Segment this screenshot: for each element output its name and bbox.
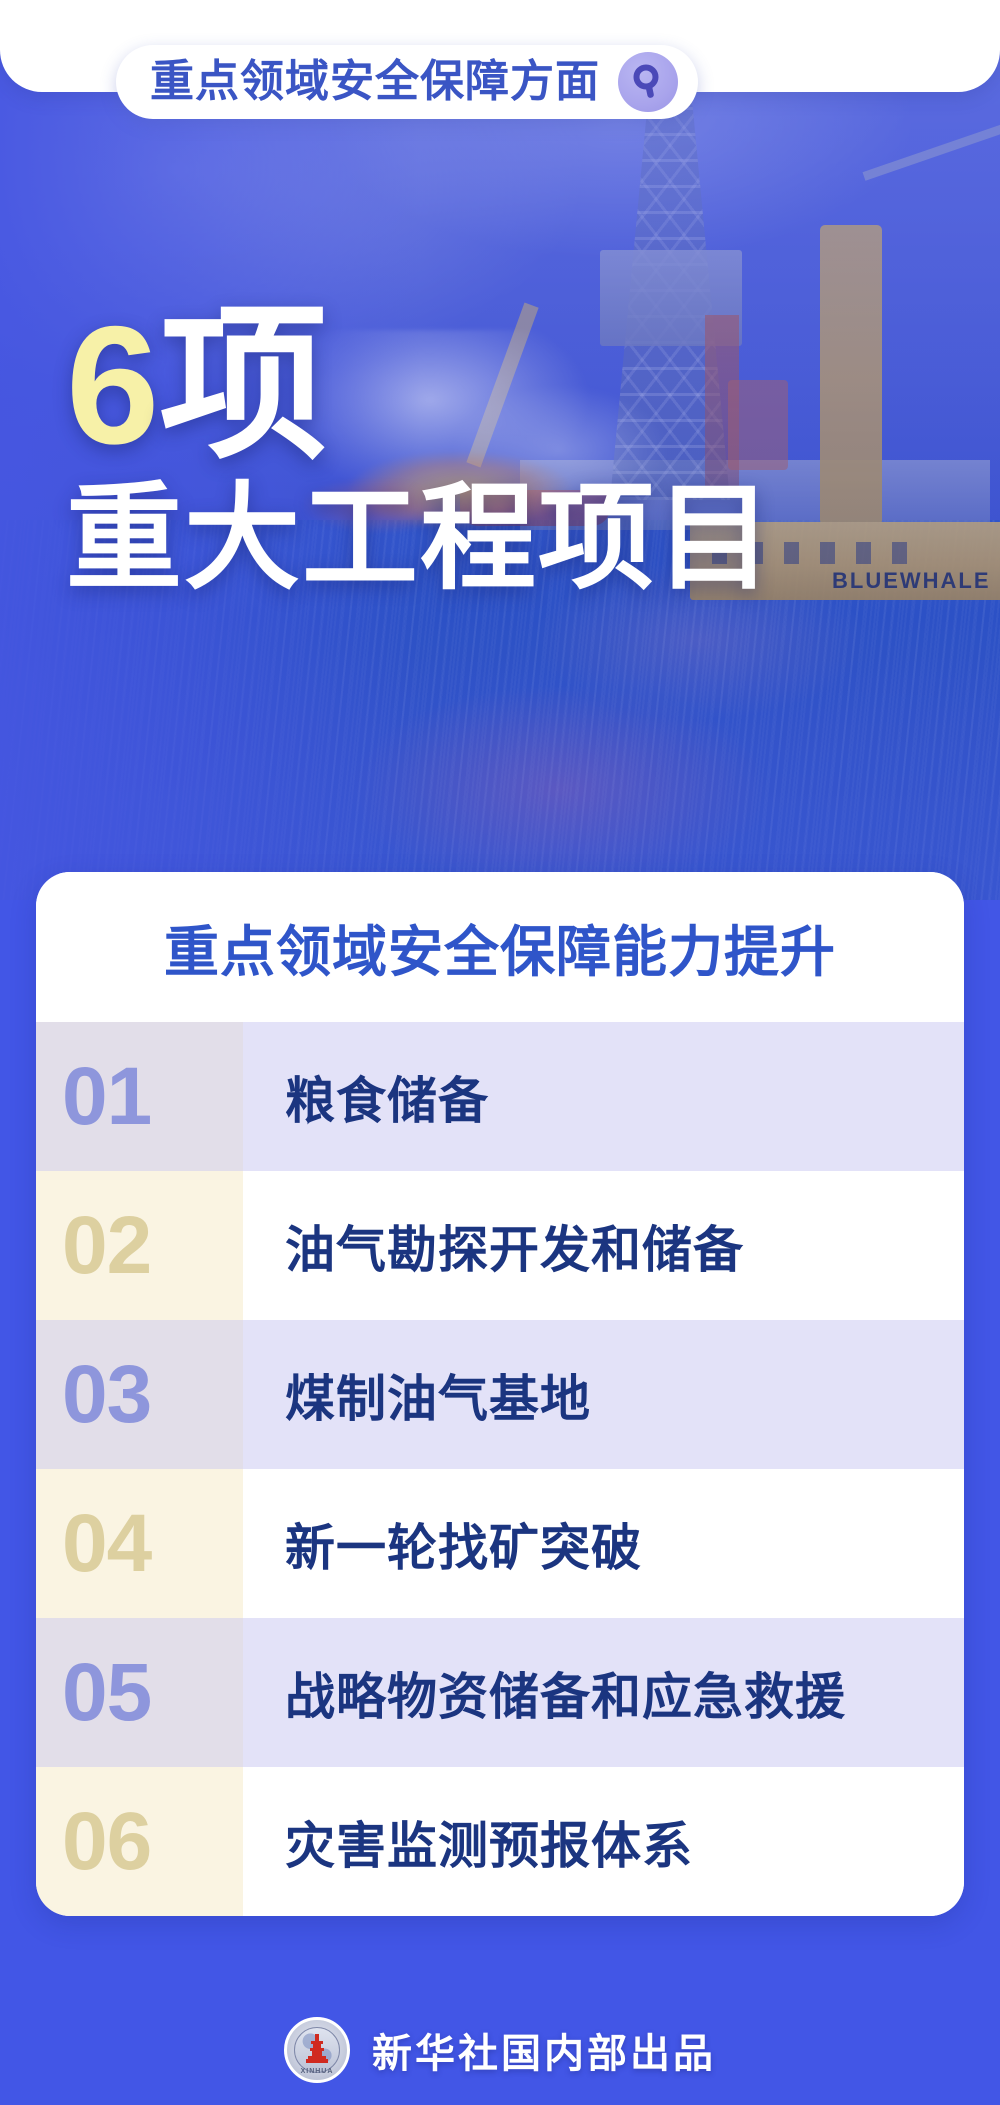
row-number: 05 (36, 1618, 243, 1767)
logo-ring-text: XINHUA (287, 2068, 347, 2075)
magnifier-icon (618, 52, 678, 112)
card-title-text: 重点领域安全保障能力提升 (164, 907, 836, 987)
hero-title-line2: 重大工程项目 (66, 479, 774, 597)
hero-title: 6项 重大工程项目 (66, 300, 774, 598)
hero-title-number: 6 (66, 291, 159, 479)
row-number: 02 (36, 1171, 243, 1320)
row-label: 战略物资储备和应急救援 (243, 1618, 964, 1767)
row-number: 04 (36, 1469, 243, 1618)
table-row[interactable]: 04 新一轮找矿突破 (36, 1469, 964, 1618)
table-row[interactable]: 02 油气勘探开发和储备 (36, 1171, 964, 1320)
content-card: 重点领域安全保障能力提升 01 粮食储备 02 油气勘探开发和储备 03 煤制油… (36, 872, 964, 1916)
xinhua-news-agency-logo: XINHUA (284, 2017, 350, 2083)
row-number: 03 (36, 1320, 243, 1469)
row-label: 新一轮找矿突破 (243, 1469, 964, 1618)
table-row[interactable]: 06 灾害监测预报体系 (36, 1767, 964, 1916)
footer: XINHUA 新华社国内部出品 (0, 1995, 1000, 2105)
card-title: 重点领域安全保障能力提升 (36, 872, 964, 1022)
row-label: 油气勘探开发和储备 (243, 1171, 964, 1320)
logo-pagoda-icon (304, 2033, 330, 2067)
hero-title-line1: 6项 (66, 300, 774, 471)
hero-title-unit: 项 (159, 291, 327, 479)
row-number: 01 (36, 1022, 243, 1171)
table-row[interactable]: 01 粮食储备 (36, 1022, 964, 1171)
header-badge[interactable]: 重点领域安全保障方面 (116, 45, 698, 119)
row-number: 06 (36, 1767, 243, 1916)
table-row[interactable]: 03 煤制油气基地 (36, 1320, 964, 1469)
table-row[interactable]: 05 战略物资储备和应急救援 (36, 1618, 964, 1767)
header-title: 重点领域安全保障方面 (150, 60, 600, 104)
footer-text: 新华社国内部出品 (372, 2021, 716, 2079)
poster-root: BLUEWHALE 6项 重大工程项目 重点领域安全保障方面 重点领域安全保障能… (0, 0, 1000, 2105)
row-label: 灾害监测预报体系 (243, 1767, 964, 1916)
row-label: 粮食储备 (243, 1022, 964, 1171)
row-label: 煤制油气基地 (243, 1320, 964, 1469)
